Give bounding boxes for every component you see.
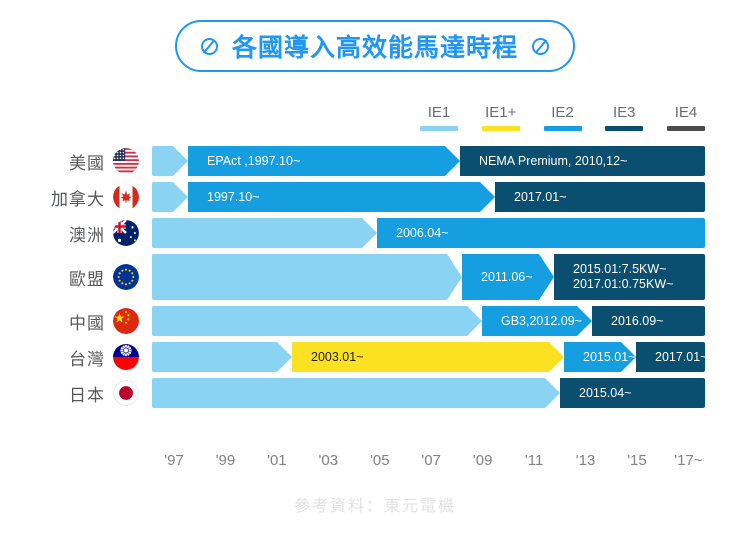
timeline-bar: 2015.04~ xyxy=(152,378,705,408)
axis-tick: '07 xyxy=(421,452,441,469)
table-row: 台灣 2003.01~2015.01~2017.01~ xyxy=(0,342,750,372)
segment-label: 2015.01~ xyxy=(583,350,635,365)
legend-item-ie2: IE2 xyxy=(539,104,587,131)
segment-label: 1997.10~ xyxy=(207,190,259,205)
page-title: 各國導入高效能馬達時程 xyxy=(232,28,518,64)
legend-label: IE1+ xyxy=(485,104,516,122)
timeline-bar: 1997.10~2017.01~ xyxy=(152,182,705,212)
legend-item-ie4: IE4 xyxy=(662,104,710,131)
segment-label: 2006.04~ xyxy=(396,226,448,241)
legend-label: IE4 xyxy=(675,104,698,122)
timeline-bar: EPAct ,1997.10~NEMA Premium, 2010,12~ xyxy=(152,146,705,176)
segment-label: 2015.01:7.5KW~ 2017.01:0.75KW~ xyxy=(573,262,673,292)
axis-tick: '13 xyxy=(576,452,596,469)
bar-segment-ie1[interactable] xyxy=(152,254,462,300)
bar-segment-ie3[interactable]: NEMA Premium, 2010,12~ xyxy=(460,146,705,176)
legend-label: IE1 xyxy=(428,104,451,122)
cn-flag-icon xyxy=(113,308,139,334)
country-label-6: 日本 xyxy=(0,378,105,408)
bar-segment-ie3[interactable]: 2016.09~ xyxy=(592,306,705,336)
bar-segment-ie3[interactable]: 2017.01~ xyxy=(636,342,705,372)
bar-segment-ie2[interactable]: EPAct ,1997.10~ xyxy=(188,146,460,176)
bar-segment-ie1[interactable] xyxy=(152,306,482,336)
legend: IE1IE1+IE2IE3IE4 xyxy=(415,104,710,138)
bar-segment-ie1plus[interactable]: 2003.01~ xyxy=(292,342,564,372)
table-row: 日本 2015.04~ xyxy=(0,378,750,408)
axis-tick: '03 xyxy=(319,452,339,469)
segment-label: 2017.01~ xyxy=(655,350,707,365)
segment-label: NEMA Premium, 2010,12~ xyxy=(479,154,627,169)
us-flag-icon xyxy=(113,148,139,174)
country-label-4: 中國 xyxy=(0,306,105,336)
bar-segment-ie1[interactable] xyxy=(152,182,188,212)
axis-tick: '99 xyxy=(216,452,236,469)
legend-label: IE3 xyxy=(613,104,636,122)
legend-item-ie3: IE3 xyxy=(600,104,648,131)
source-note: 參考資料：東元電機 xyxy=(0,492,750,516)
legend-swatch xyxy=(482,126,520,131)
bar-segment-ie2[interactable]: GB3,2012.09~ xyxy=(482,306,592,336)
axis-tick: '01 xyxy=(267,452,287,469)
eu-flag-icon xyxy=(113,264,139,290)
timeline-bar: 2003.01~2015.01~2017.01~ xyxy=(152,342,705,372)
country-label-5: 台灣 xyxy=(0,342,105,372)
axis-tick: '11 xyxy=(525,452,543,469)
title-banner: 各國導入高效能馬達時程 xyxy=(175,20,575,72)
tw-flag-icon xyxy=(113,344,139,370)
table-row: 歐盟 2011.06~2015.01:7.5KW~ 2017.01:0.75KW… xyxy=(0,254,750,300)
bar-segment-ie2[interactable]: 2011.06~ xyxy=(462,254,554,300)
bar-segment-ie2[interactable]: 2006.04~ xyxy=(377,218,705,248)
legend-item-ie1plus: IE1+ xyxy=(477,104,525,131)
legend-swatch xyxy=(667,126,705,131)
axis-tick: '15 xyxy=(627,452,647,469)
axis-tick: '97 xyxy=(164,452,184,469)
timeline-rows: 美國 EPAct ,1997.10~NEMA Premium, 2010,12~… xyxy=(0,146,750,414)
no-entry-icon-right xyxy=(532,38,549,55)
bar-segment-ie2[interactable]: 1997.10~ xyxy=(188,182,495,212)
country-label-1: 加拿大 xyxy=(0,182,105,212)
segment-label: GB3,2012.09~ xyxy=(501,314,582,329)
timeline-bar: 2006.04~ xyxy=(152,218,705,248)
segment-label: EPAct ,1997.10~ xyxy=(207,154,300,169)
country-label-0: 美國 xyxy=(0,146,105,176)
country-label-3: 歐盟 xyxy=(0,254,105,300)
axis-tick: '05 xyxy=(370,452,390,469)
axis-tick: '09 xyxy=(473,452,493,469)
legend-swatch xyxy=(420,126,458,131)
ca-flag-icon xyxy=(113,184,139,210)
bar-segment-ie1[interactable] xyxy=(152,378,560,408)
legend-swatch xyxy=(605,126,643,131)
segment-label: 2015.04~ xyxy=(579,386,631,401)
jp-flag-icon xyxy=(113,380,139,406)
legend-swatch xyxy=(544,126,582,131)
country-label-2: 澳洲 xyxy=(0,218,105,248)
legend-label: IE2 xyxy=(551,104,574,122)
bar-segment-ie1[interactable] xyxy=(152,218,377,248)
no-entry-icon-left xyxy=(201,38,218,55)
table-row: 澳洲 2006.04~ xyxy=(0,218,750,248)
x-axis: '97'99'01'03'05'07'09'11'13'15'17~ xyxy=(152,452,712,476)
legend-item-ie1: IE1 xyxy=(415,104,463,131)
segment-label: 2017.01~ xyxy=(514,190,566,205)
bar-segment-ie1[interactable] xyxy=(152,146,188,176)
bar-segment-ie1[interactable] xyxy=(152,342,292,372)
bar-segment-ie3[interactable]: 2015.01:7.5KW~ 2017.01:0.75KW~ xyxy=(554,254,705,300)
axis-tick: '17~ xyxy=(674,452,702,469)
bar-segment-ie2[interactable]: 2015.01~ xyxy=(564,342,636,372)
segment-label: 2011.06~ xyxy=(481,270,533,285)
segment-label: 2016.09~ xyxy=(611,314,663,329)
segment-label: 2003.01~ xyxy=(311,350,363,365)
timeline-bar: GB3,2012.09~2016.09~ xyxy=(152,306,705,336)
table-row: 中國 GB3,2012.09~2016.09~ xyxy=(0,306,750,336)
table-row: 美國 EPAct ,1997.10~NEMA Premium, 2010,12~ xyxy=(0,146,750,176)
bar-segment-ie3[interactable]: 2017.01~ xyxy=(495,182,705,212)
bar-segment-ie3[interactable]: 2015.04~ xyxy=(560,378,705,408)
au-flag-icon xyxy=(113,220,139,246)
timeline-bar: 2011.06~2015.01:7.5KW~ 2017.01:0.75KW~ xyxy=(152,254,705,300)
table-row: 加拿大 1997.10~2017.01~ xyxy=(0,182,750,212)
